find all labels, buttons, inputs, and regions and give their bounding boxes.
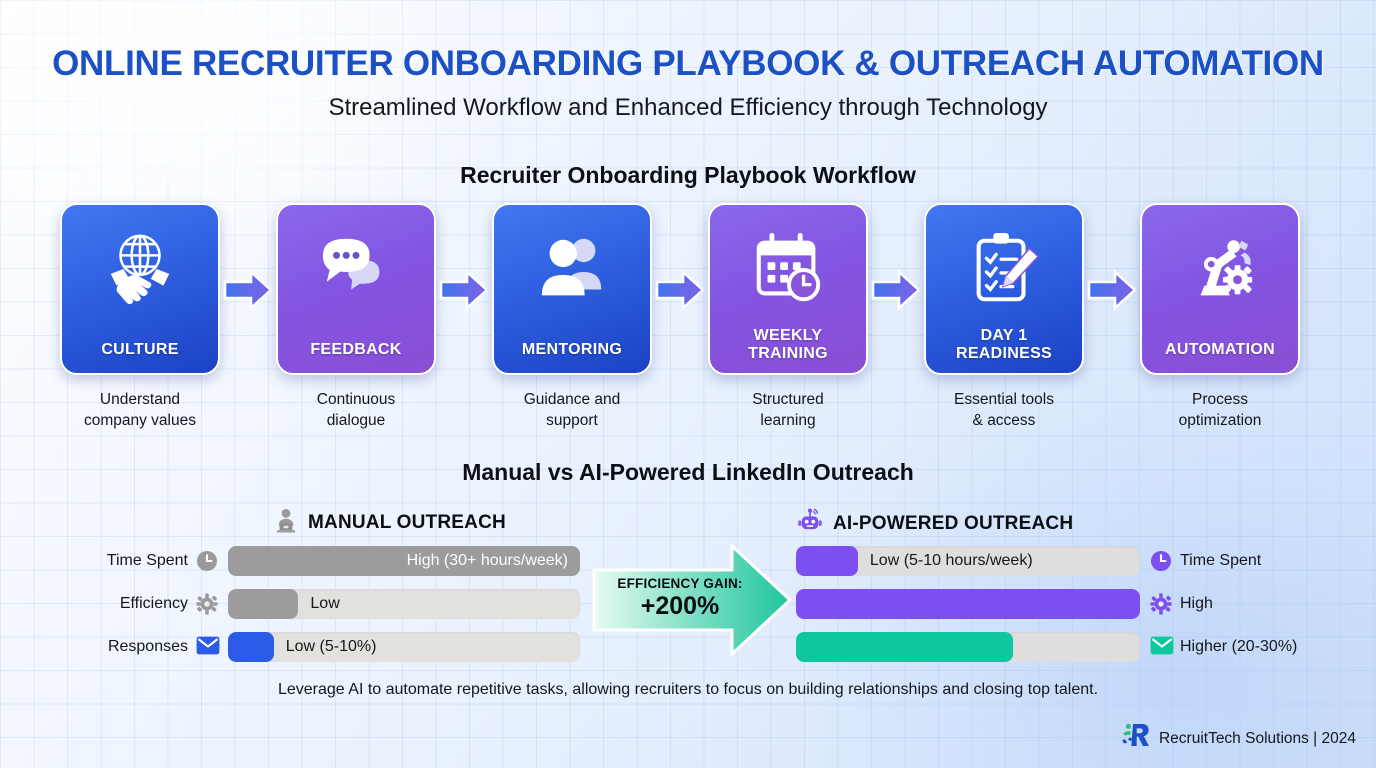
ai-bar-row: Low (5-10 hours/week)Time Spent [0, 546, 1376, 576]
workflow-arrow-3 [655, 269, 705, 311]
ai-row-label: High [1180, 595, 1213, 613]
workflow-step-label: CULTURE [62, 341, 218, 359]
ai-bar-fill [796, 632, 1013, 662]
robot-head-icon [795, 506, 825, 542]
workflow-arrow-2 [439, 269, 489, 311]
workflow-step-description: Continuousdialogue [276, 389, 436, 431]
workflow-step-label: FEEDBACK [278, 341, 434, 359]
workflow-steps-row: CULTUREUnderstandcompany values FEEDBACK… [60, 203, 1316, 433]
ai-outreach-header: AI-POWERED OUTREACH [795, 506, 1073, 542]
page-title: ONLINE RECRUITER ONBOARDING PLAYBOOK & O… [0, 44, 1376, 84]
workflow-card[interactable]: FEEDBACK [276, 203, 436, 375]
infographic-page: ONLINE RECRUITER ONBOARDING PLAYBOOK & O… [0, 0, 1376, 768]
comparison-caption: Leverage AI to automate repetitive tasks… [0, 681, 1376, 699]
workflow-step-automation[interactable]: AUTOMATIONProcessoptimization [1140, 203, 1300, 431]
envelope-icon [1150, 636, 1174, 655]
manual-outreach-header: MANUAL OUTREACH [272, 506, 506, 540]
workflow-step-culture[interactable]: CULTUREUnderstandcompany values [60, 203, 220, 431]
manual-outreach-title: MANUAL OUTREACH [308, 512, 506, 534]
clipboard-pencil-icon [965, 229, 1043, 311]
workflow-card[interactable]: MENTORING [492, 203, 652, 375]
workflow-step-label: WEEKLYTRAINING [710, 327, 866, 363]
calendar-clock-icon [749, 229, 827, 311]
workflow-step-label: AUTOMATION [1142, 341, 1298, 359]
clock-icon [1150, 550, 1172, 572]
ai-bar-row: High [0, 589, 1376, 619]
workflow-step-mentoring[interactable]: MENTORINGGuidance andsupport [492, 203, 652, 431]
ai-bar-row: Higher (20-30%) [0, 632, 1376, 662]
workflow-arrow-4 [871, 269, 921, 311]
workflow-section-heading: Recruiter Onboarding Playbook Workflow [0, 162, 1376, 189]
comparison-panel: MANUAL OUTREACH AI-POWERED OUTREACH [0, 498, 1376, 673]
two-people-icon [533, 229, 611, 311]
ai-bar-fill [796, 546, 858, 576]
workflow-step-description: Structuredlearning [708, 389, 868, 431]
ai-bar-value: Low (5-10 hours/week) [870, 546, 1033, 576]
ai-row-label: Higher (20-30%) [1180, 638, 1297, 656]
workflow-arrow-1 [223, 269, 273, 311]
workflow-step-weekly-training[interactable]: WEEKLYTRAININGStructuredlearning [708, 203, 868, 431]
robot-arm-gear-icon [1181, 229, 1259, 311]
globe-handshake-icon [101, 229, 179, 311]
ai-bar-track [796, 589, 1140, 619]
workflow-step-label: MENTORING [494, 341, 650, 359]
comparison-section-heading: Manual vs AI-Powered LinkedIn Outreach [0, 459, 1376, 486]
ai-outreach-title: AI-POWERED OUTREACH [833, 513, 1073, 535]
workflow-step-feedback[interactable]: FEEDBACKContinuousdialogue [276, 203, 436, 431]
workflow-card[interactable]: AUTOMATION [1140, 203, 1300, 375]
workflow-step-label: DAY 1READINESS [926, 327, 1082, 363]
workflow-step-description: Essential tools& access [924, 389, 1084, 431]
workflow-step-day-1-readiness[interactable]: DAY 1READINESSEssential tools& access [924, 203, 1084, 431]
workflow-step-description: Understandcompany values [60, 389, 220, 431]
footer: RecruitTech Solutions | 2024 [1121, 721, 1356, 756]
page-subtitle: Streamlined Workflow and Enhanced Effici… [0, 94, 1376, 122]
gear-icon [1150, 593, 1172, 615]
recruittech-r-logo [1121, 721, 1151, 756]
workflow-step-description: Guidance andsupport [492, 389, 652, 431]
workflow-card[interactable]: DAY 1READINESS [924, 203, 1084, 375]
ai-bar-track [796, 632, 1140, 662]
person-laptop-icon [272, 506, 300, 540]
chat-bubbles-icon [317, 229, 395, 311]
workflow-card[interactable]: WEEKLYTRAINING [708, 203, 868, 375]
workflow-step-description: Processoptimization [1140, 389, 1300, 431]
footer-brand: RecruitTech Solutions | 2024 [1159, 730, 1356, 748]
workflow-arrow-5 [1087, 269, 1137, 311]
workflow-card[interactable]: CULTURE [60, 203, 220, 375]
ai-bar-track: Low (5-10 hours/week) [796, 546, 1140, 576]
ai-bar-fill [796, 589, 1140, 619]
ai-row-label: Time Spent [1180, 552, 1261, 570]
